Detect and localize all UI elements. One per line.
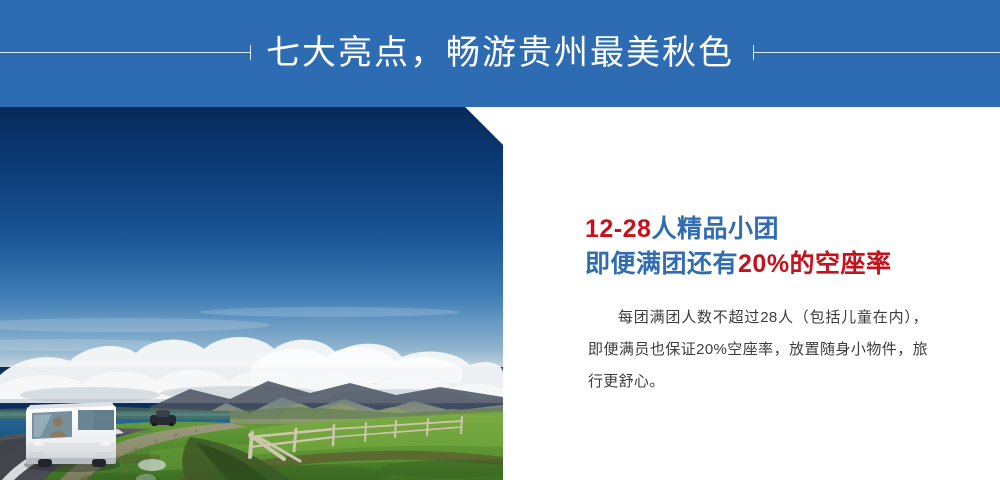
- promo-banner: 七大亮点，畅游贵州最美秋色: [0, 0, 1000, 480]
- highlight-headline: 12-28人精品小团 即便满团还有20%的空座率: [585, 212, 892, 282]
- headline-line-2: 即便满团还有20%的空座率: [585, 247, 892, 282]
- headline-vacancy-rate: 20%的空座率: [738, 250, 892, 278]
- tour-bus-shape: [24, 402, 120, 472]
- content-panel: 12-28人精品小团 即便满团还有20%的空座率 每团满团人数不超过28人（包括…: [503, 107, 1000, 480]
- headline-line1-tail: 人精品小团: [651, 215, 779, 243]
- headline-line2-head: 即便满团还有: [585, 250, 738, 278]
- body-paragraph: 每团满团人数不超过28人（包括儿童在内），即便满员也保证20%空座率，放置随身小…: [588, 302, 928, 398]
- headline-number-range: 12-28: [585, 215, 651, 243]
- page-title: 七大亮点，畅游贵州最美秋色: [0, 0, 1000, 107]
- landscape-photo: [0, 107, 503, 480]
- headline-line-1: 12-28人精品小团: [585, 212, 892, 247]
- header-bar: 七大亮点，畅游贵州最美秋色: [0, 0, 1000, 107]
- photo-panel: [0, 107, 503, 480]
